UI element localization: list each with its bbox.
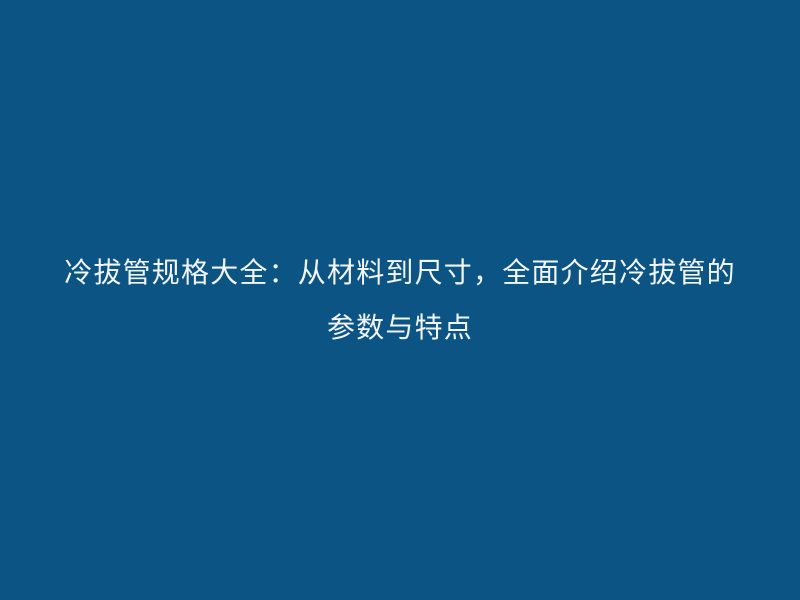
page-title: 冷拔管规格大全：从材料到尺寸，全面介绍冷拔管的参数与特点 (55, 245, 745, 355)
title-card-background: 冷拔管规格大全：从材料到尺寸，全面介绍冷拔管的参数与特点 (0, 0, 800, 600)
title-block: 冷拔管规格大全：从材料到尺寸，全面介绍冷拔管的参数与特点 (55, 245, 745, 355)
